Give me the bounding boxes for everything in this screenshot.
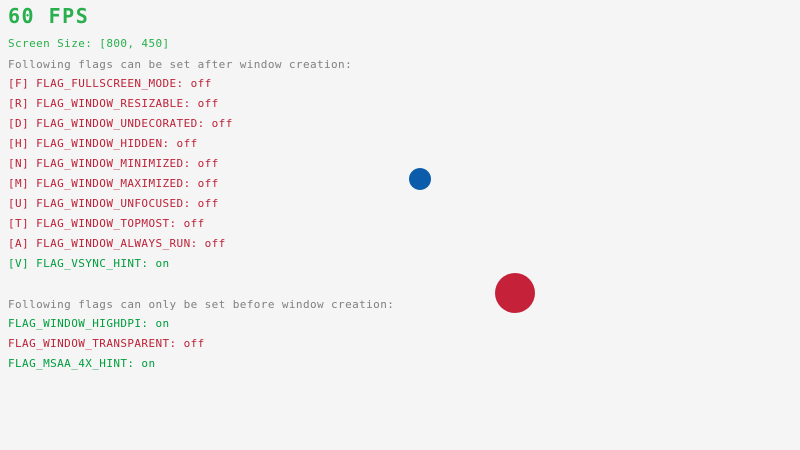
- pre-creation-section-header: Following flags can only be set before w…: [8, 299, 394, 310]
- flag-row-window-always-run[interactable]: [A] FLAG_WINDOW_ALWAYS_RUN: off: [8, 238, 226, 249]
- flag-row-fullscreen-mode[interactable]: [F] FLAG_FULLSCREEN_MODE: off: [8, 78, 212, 89]
- flag-row-vsync-hint[interactable]: [V] FLAG_VSYNC_HINT: on: [8, 258, 170, 269]
- flag-row-window-topmost[interactable]: [T] FLAG_WINDOW_TOPMOST: off: [8, 218, 205, 229]
- red-ball-shape: [495, 273, 535, 313]
- flag-row-window-undecorated[interactable]: [D] FLAG_WINDOW_UNDECORATED: off: [8, 118, 233, 129]
- fps-counter: 60 FPS: [8, 6, 89, 26]
- flag-row-window-maximized[interactable]: [M] FLAG_WINDOW_MAXIMIZED: off: [8, 178, 219, 189]
- flag-row-window-unfocused[interactable]: [U] FLAG_WINDOW_UNFOCUSED: off: [8, 198, 219, 209]
- flag-row-window-highdpi: FLAG_WINDOW_HIGHDPI: on: [8, 318, 170, 329]
- blue-ball-shape: [409, 168, 431, 190]
- flag-row-window-resizable[interactable]: [R] FLAG_WINDOW_RESIZABLE: off: [8, 98, 219, 109]
- app-canvas: 60 FPS Screen Size: [800, 450] Following…: [0, 0, 800, 450]
- flag-row-msaa-4x-hint: FLAG_MSAA_4X_HINT: on: [8, 358, 155, 369]
- post-creation-section-header: Following flags can be set after window …: [8, 59, 352, 70]
- flag-row-window-hidden[interactable]: [H] FLAG_WINDOW_HIDDEN: off: [8, 138, 198, 149]
- flag-row-window-transparent: FLAG_WINDOW_TRANSPARENT: off: [8, 338, 205, 349]
- flag-row-window-minimized[interactable]: [N] FLAG_WINDOW_MINIMIZED: off: [8, 158, 219, 169]
- screen-size-label: Screen Size: [800, 450]: [8, 38, 170, 49]
